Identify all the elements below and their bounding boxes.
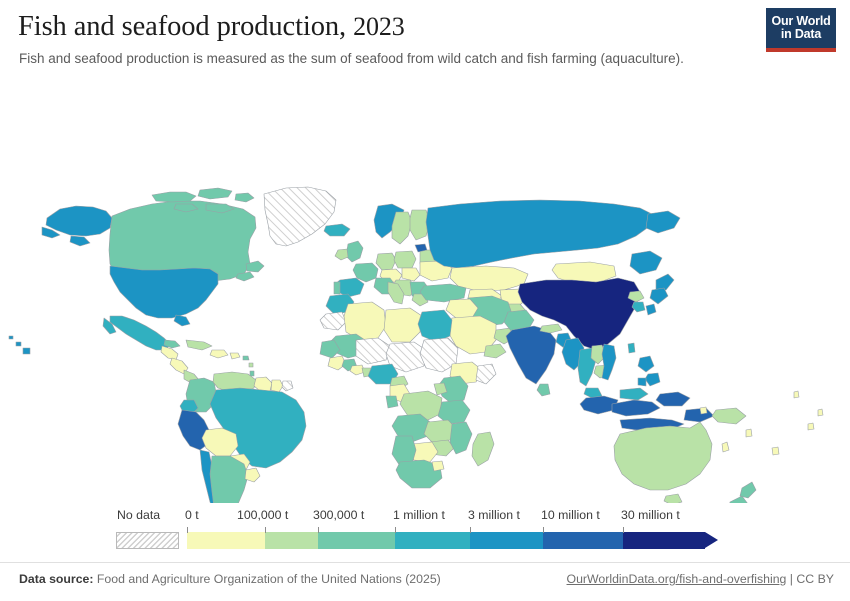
country-western-sahara[interactable] — [320, 312, 346, 330]
legend-tickmark-0 — [187, 527, 188, 533]
country-taiwan[interactable] — [628, 343, 635, 353]
chart-subtitle: Fish and seafood production is measured … — [19, 51, 684, 66]
country-suriname[interactable] — [271, 380, 283, 392]
license-label: | CC BY — [786, 572, 834, 586]
country-alaska[interactable] — [42, 206, 112, 246]
legend-tickmark-5 — [543, 527, 544, 533]
data-source: Data source: Food and Agriculture Organi… — [19, 572, 441, 586]
legend-bin-2[interactable] — [318, 532, 395, 549]
country-greenland[interactable] — [264, 187, 336, 246]
legend-bin-1[interactable] — [265, 532, 318, 549]
country-egypt[interactable] — [418, 310, 452, 342]
chart-footer: Data source: Food and Agriculture Organi… — [0, 562, 850, 601]
country-mexico[interactable] — [103, 316, 170, 350]
country-libya[interactable] — [384, 308, 422, 342]
data-source-value: Food and Agriculture Organization of the… — [94, 572, 441, 586]
region-caribbean[interactable] — [186, 340, 254, 376]
legend-tickmark-2 — [318, 527, 319, 533]
legend-tickmark-1 — [265, 527, 266, 533]
country-south-korea[interactable] — [632, 302, 645, 312]
footer-attribution[interactable]: OurWorldinData.org/fish-and-overfishing … — [567, 572, 834, 586]
country-argentina[interactable] — [210, 456, 248, 503]
owid-url[interactable]: OurWorldinData.org/fish-and-overfishing — [567, 572, 787, 586]
country-russia[interactable] — [426, 200, 680, 274]
country-guyana[interactable] — [254, 377, 272, 391]
country-french-guiana[interactable] — [282, 381, 293, 391]
country-sri-lanka[interactable] — [537, 384, 550, 396]
owid-logo-line2: in Data — [781, 28, 821, 41]
country-uruguay[interactable] — [245, 468, 260, 482]
legend-open-ended-arrow-icon — [705, 532, 718, 548]
country-japan[interactable] — [646, 274, 674, 315]
country-indonesia[interactable] — [580, 392, 714, 431]
legend-tick-labels: No data 0 t 100,000 t 300,000 t 1 millio… — [0, 508, 850, 528]
country-portugal[interactable] — [334, 282, 340, 294]
country-india[interactable] — [506, 326, 556, 384]
legend-tick-6: 30 million t — [621, 508, 680, 522]
legend-bin-4[interactable] — [470, 532, 543, 549]
country-papua-new-guinea[interactable] — [712, 408, 746, 424]
country-united-kingdom[interactable] — [346, 241, 363, 262]
legend-tick-1: 100,000 t — [237, 508, 288, 522]
page-title: Fish and seafood production, 2023 — [18, 11, 405, 43]
owid-logo-line1: Our World — [771, 15, 830, 28]
country-philippines[interactable] — [638, 356, 660, 386]
page-title-text: Fish and seafood production, — [18, 11, 353, 42]
owid-logo[interactable]: Our World in Data — [766, 8, 836, 52]
country-new-zealand[interactable] — [728, 482, 756, 503]
map-legend: No data 0 t 100,000 t 300,000 t 1 millio… — [0, 508, 850, 556]
legend-tickmark-4 — [470, 527, 471, 533]
country-nepal[interactable] — [540, 324, 562, 333]
legend-tick-5: 10 million t — [541, 508, 600, 522]
country-ireland[interactable] — [335, 249, 348, 260]
legend-tick-2: 300,000 t — [313, 508, 364, 522]
country-hawaii[interactable] — [9, 336, 30, 354]
legend-bin-5[interactable] — [543, 532, 623, 549]
country-iceland[interactable] — [324, 224, 350, 236]
legend-tickmark-6 — [623, 527, 624, 533]
legend-bin-3[interactable] — [395, 532, 470, 549]
country-australia[interactable] — [614, 422, 712, 503]
legend-bin-6[interactable] — [623, 532, 705, 549]
pacific-islands[interactable] — [700, 391, 823, 455]
legend-label-no-data: No data — [117, 508, 160, 522]
world-choropleth-map[interactable] — [0, 78, 850, 503]
legend-tick-3: 1 million t — [393, 508, 445, 522]
page-title-year: 2023 — [353, 12, 405, 41]
country-somalia[interactable] — [476, 364, 496, 384]
country-poland[interactable] — [394, 251, 416, 268]
legend-tickmark-3 — [395, 527, 396, 533]
legend-tick-0: 0 t — [185, 508, 199, 522]
country-sweden[interactable] — [392, 212, 412, 244]
data-source-label: Data source: — [19, 572, 94, 586]
legend-tick-4: 3 million t — [468, 508, 520, 522]
country-madagascar[interactable] — [472, 432, 494, 466]
legend-swatch-no-data[interactable] — [116, 532, 179, 549]
legend-bin-0[interactable] — [187, 532, 265, 549]
country-united-states[interactable] — [110, 266, 218, 326]
country-germany[interactable] — [376, 253, 396, 270]
country-vietnam[interactable] — [602, 344, 616, 380]
country-south-africa[interactable] — [396, 460, 444, 488]
